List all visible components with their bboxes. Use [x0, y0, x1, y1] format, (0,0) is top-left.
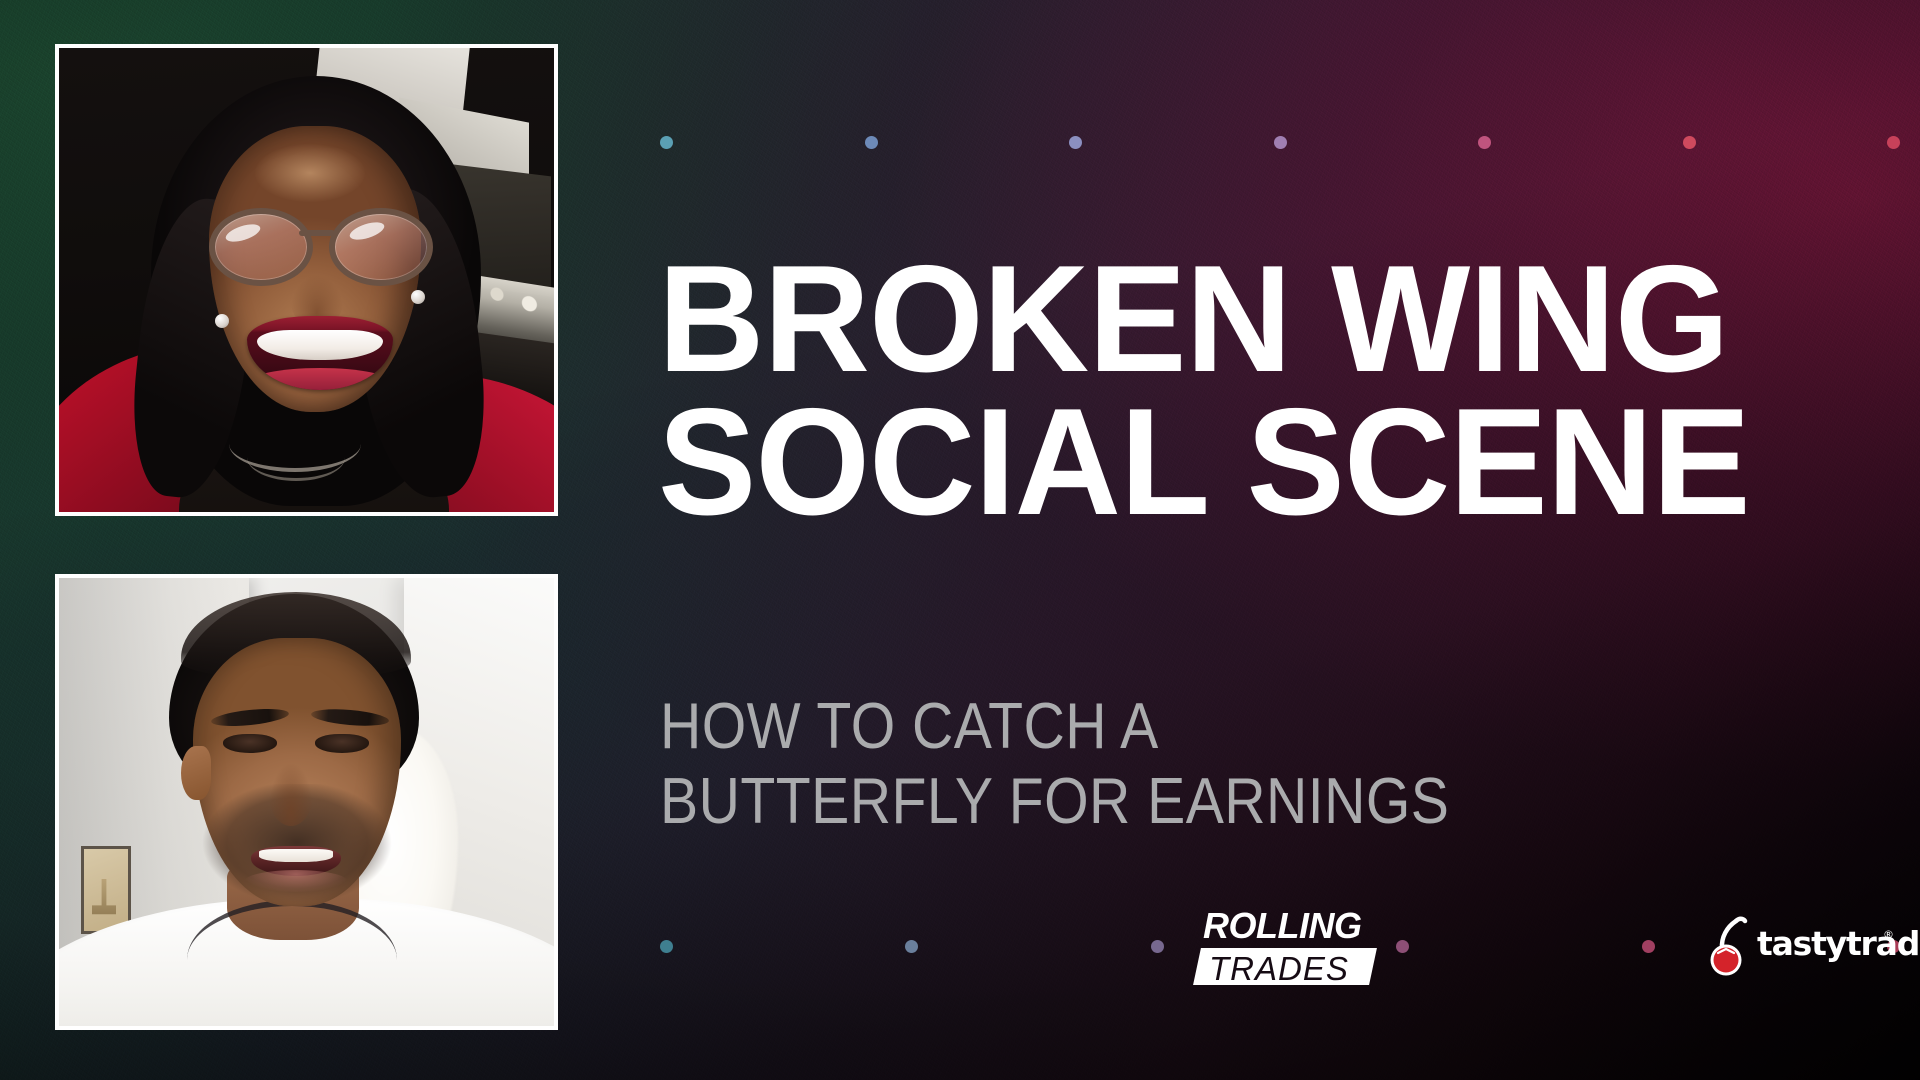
dot	[1151, 940, 1164, 953]
necklace-strand	[247, 434, 345, 481]
video-feed-man	[59, 578, 554, 1026]
dot	[660, 940, 673, 953]
video-panel-host-man[interactable]	[55, 574, 558, 1030]
subtitle: HOW TO CATCH A BUTTERFLY FOR EARNINGS	[660, 688, 1760, 839]
rolling-trades-word-rolling: ROLLING	[1203, 908, 1361, 944]
eyeglass-lens-left	[209, 208, 313, 286]
earring-right	[411, 290, 425, 304]
eyeglasses	[205, 206, 433, 280]
picture-art	[92, 879, 116, 923]
eye-right	[315, 734, 369, 753]
lower-lip	[247, 368, 393, 390]
tastytrade-logo: tastytrade ®	[1705, 915, 1897, 977]
eyeglass-lens-right	[329, 208, 433, 286]
dot	[865, 136, 878, 149]
video-panel-host-woman[interactable]	[55, 44, 558, 516]
teeth	[257, 330, 383, 360]
dot	[1642, 940, 1655, 953]
dot	[1396, 940, 1409, 953]
dot	[1069, 136, 1082, 149]
dot	[1683, 136, 1696, 149]
dot	[1478, 136, 1491, 149]
dot	[1274, 136, 1287, 149]
eye-left	[223, 734, 277, 753]
decorative-dot-row-top	[660, 136, 1900, 149]
lower-lip	[245, 870, 347, 892]
title-line-1: BROKEN WING	[658, 248, 1856, 391]
dot	[1887, 136, 1900, 149]
teeth	[259, 849, 333, 862]
earring-left	[215, 314, 229, 328]
title-line-2: SOCIAL SCENE	[658, 391, 1856, 534]
rolling-trades-word-trades: TRADES	[1209, 952, 1349, 985]
dot	[905, 940, 918, 953]
rolling-trades-logo: ROLLING TRADES	[1197, 908, 1373, 988]
nose	[269, 764, 313, 826]
registered-trademark-icon: ®	[1883, 929, 1894, 940]
lens-glint	[348, 219, 387, 243]
ear	[181, 746, 211, 800]
video-feed-woman	[59, 48, 554, 512]
video-thumbnail-stage: BROKEN WING SOCIAL SCENE HOW TO CATCH A …	[0, 0, 1920, 1080]
eyeglass-bridge	[299, 230, 335, 236]
subtitle-line-1: HOW TO CATCH A	[660, 688, 1628, 763]
tastytrade-wordmark: tastytrade	[1757, 927, 1920, 960]
dot	[660, 136, 673, 149]
subtitle-line-2: BUTTERFLY FOR EARNINGS	[660, 763, 1628, 838]
cherry-icon	[1705, 915, 1761, 977]
title: BROKEN WING SOCIAL SCENE	[658, 248, 1893, 534]
smiling-mouth	[247, 316, 393, 390]
lens-glint	[224, 221, 263, 245]
forehead-highlight	[255, 144, 365, 202]
